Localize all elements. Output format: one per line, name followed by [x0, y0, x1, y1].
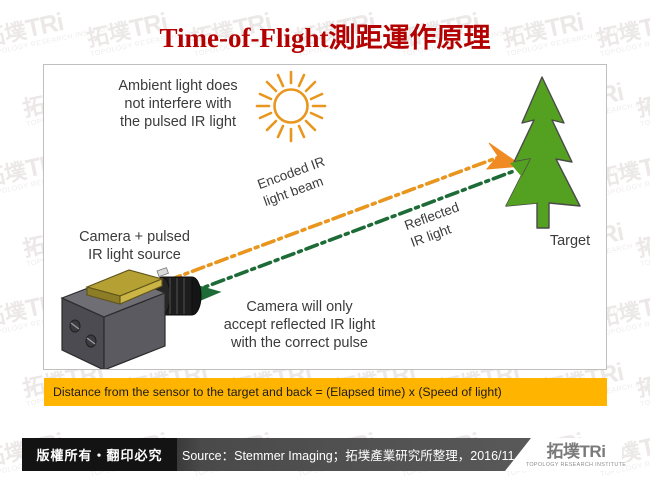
- camera-source-label: Camera + pulsed IR light source: [52, 228, 217, 264]
- copyright-text: 版權所有‧翻印必究: [36, 445, 162, 464]
- camera-accept-label: Camera will only accept reflected IR lig…: [192, 298, 407, 352]
- tri-logo-en: TRi: [580, 442, 606, 461]
- page-title: Time-of-Flight測距運作原理: [0, 16, 650, 55]
- equation-banner: Distance from the sensor to the target a…: [44, 378, 607, 406]
- watermark-mark: 拓墣TRiTOPOLOGY RESEARCH INSTITUTE: [634, 205, 650, 269]
- tri-logo-cn: 拓墣: [547, 442, 580, 461]
- watermark-mark: 拓墣TRiTOPOLOGY RESEARCH INSTITUTE: [634, 65, 650, 129]
- source-text: Source：Stemmer Imaging；拓墣產業研究所整理，2016/11: [182, 445, 515, 464]
- figure-panel: Ambient light does not interfere with th…: [43, 64, 607, 370]
- tri-logo-subtitle: TOPOLOGY RESEARCH INSTITUTE: [526, 462, 626, 468]
- camera-device-icon: [62, 268, 201, 369]
- ambient-light-label: Ambient light does not interfere with th…: [88, 77, 268, 131]
- target-label: Target: [530, 232, 610, 250]
- tri-logo: 拓墣TRi TOPOLOGY RESEARCH INSTITUTE: [530, 440, 622, 470]
- slide-footer: 版權所有‧翻印必究 Source：Stemmer Imaging；拓墣產業研究所…: [0, 432, 650, 477]
- copyright-block: 版權所有‧翻印必究: [22, 438, 177, 471]
- equation-text: Distance from the sensor to the target a…: [53, 385, 502, 399]
- pine-tree-target-icon: [506, 77, 580, 228]
- watermark-mark: 拓墣TRiTOPOLOGY RESEARCH INSTITUTE: [634, 345, 650, 409]
- tri-logo-wordmark: 拓墣TRi: [547, 443, 606, 460]
